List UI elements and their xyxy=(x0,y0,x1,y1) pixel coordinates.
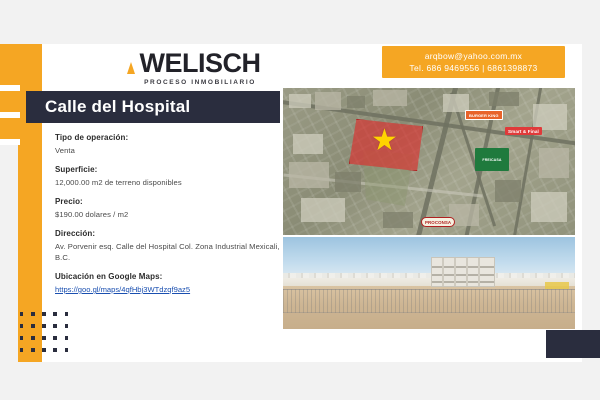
satellite-map[interactable]: ★ BURGER KING Smart & Final FREICASA PRO… xyxy=(283,88,575,235)
google-maps-link[interactable]: https://goo.gl/maps/4qfHbj3WTdzqf9az5 xyxy=(55,284,280,295)
grid-dot xyxy=(65,324,69,328)
map-block xyxy=(335,172,361,192)
map-block xyxy=(315,92,341,110)
grid-dot xyxy=(42,312,46,316)
grid-dot xyxy=(20,336,24,340)
photo-equipment xyxy=(545,282,569,289)
slide-canvas: WELISCH PROCESO INMOBILIARIO arqbow@yaho… xyxy=(0,0,600,400)
field-label: Dirección: xyxy=(55,229,280,238)
map-block xyxy=(531,192,567,222)
logo-tagline: PROCESO INMOBILIARIO xyxy=(110,79,290,86)
bottom-right-block xyxy=(546,330,600,358)
map-block xyxy=(301,198,345,222)
map-block xyxy=(373,90,407,106)
field-label: Tipo de operación: xyxy=(55,133,280,142)
maps-label: Ubicación en Google Maps: xyxy=(55,272,280,281)
contact-badge: arqbow@yahoo.com.mx Tel. 686 9469556 | 6… xyxy=(382,46,565,78)
map-block xyxy=(347,96,365,108)
logo-wordmark: WELISCH xyxy=(140,48,261,78)
grid-dot xyxy=(53,348,57,352)
grid-dot xyxy=(65,348,69,352)
poi-freicasa: FREICASA xyxy=(475,148,509,171)
field-value: 12,000.00 m2 de terreno disponibles xyxy=(55,177,280,188)
grid-dot xyxy=(42,336,46,340)
building-column xyxy=(454,258,456,286)
contact-email[interactable]: arqbow@yahoo.com.mx xyxy=(425,50,522,62)
property-photo xyxy=(283,237,575,329)
field-label: Superficie: xyxy=(55,165,280,174)
contact-phones[interactable]: Tel. 686 9469556 | 6861398873 xyxy=(409,62,537,74)
field-label: Precio: xyxy=(55,197,280,206)
map-block xyxy=(539,148,569,178)
grid-dot xyxy=(20,348,24,352)
title-accent xyxy=(22,91,26,123)
page-title: Calle del Hospital xyxy=(45,97,190,117)
building-column xyxy=(442,258,444,286)
dash-mark xyxy=(0,139,20,145)
dash-mark xyxy=(0,112,20,118)
poi-smart-final: Smart & Final xyxy=(505,127,542,135)
poi-burger-king: BURGER KING xyxy=(465,110,503,120)
field-value: Venta xyxy=(55,145,280,156)
grid-dot xyxy=(31,324,35,328)
listing-details: Tipo de operación: Venta Superficie: 12,… xyxy=(55,133,280,295)
grid-dot xyxy=(20,324,24,328)
grid-dot xyxy=(42,324,46,328)
grid-dot xyxy=(53,324,57,328)
dash-decoration xyxy=(0,85,20,145)
dash-mark xyxy=(0,85,20,91)
photo-construction-building xyxy=(431,257,495,287)
map-block xyxy=(289,94,311,108)
map-block xyxy=(495,180,521,202)
grid-dot xyxy=(53,312,57,316)
map-block xyxy=(289,162,329,188)
grid-dot xyxy=(31,336,35,340)
grid-dot xyxy=(65,336,69,340)
grid-dot xyxy=(20,312,24,316)
location-star-marker: ★ xyxy=(371,126,398,156)
grid-dot xyxy=(31,348,35,352)
grid-dot xyxy=(65,312,69,316)
building-column xyxy=(478,258,480,286)
map-block xyxy=(489,92,519,106)
grid-dot xyxy=(42,348,46,352)
poi-proconsa: PROCONSA xyxy=(421,217,455,227)
dot-grid-decoration xyxy=(16,308,72,356)
map-block xyxy=(293,134,323,154)
grid-dot xyxy=(31,312,35,316)
map-block xyxy=(383,212,413,228)
brand-logo: WELISCH PROCESO INMOBILIARIO xyxy=(110,48,290,88)
top-margin xyxy=(0,0,600,44)
flame-icon xyxy=(127,62,135,74)
building-column xyxy=(466,258,468,286)
listing-title-bar: Calle del Hospital xyxy=(22,91,280,123)
field-value: $190.00 dolares / m2 xyxy=(55,209,280,220)
bottom-margin xyxy=(0,362,600,400)
photo-fence xyxy=(283,289,575,313)
grid-dot xyxy=(53,336,57,340)
field-value: Av. Porvenir esq. Calle del Hospital Col… xyxy=(55,241,280,263)
